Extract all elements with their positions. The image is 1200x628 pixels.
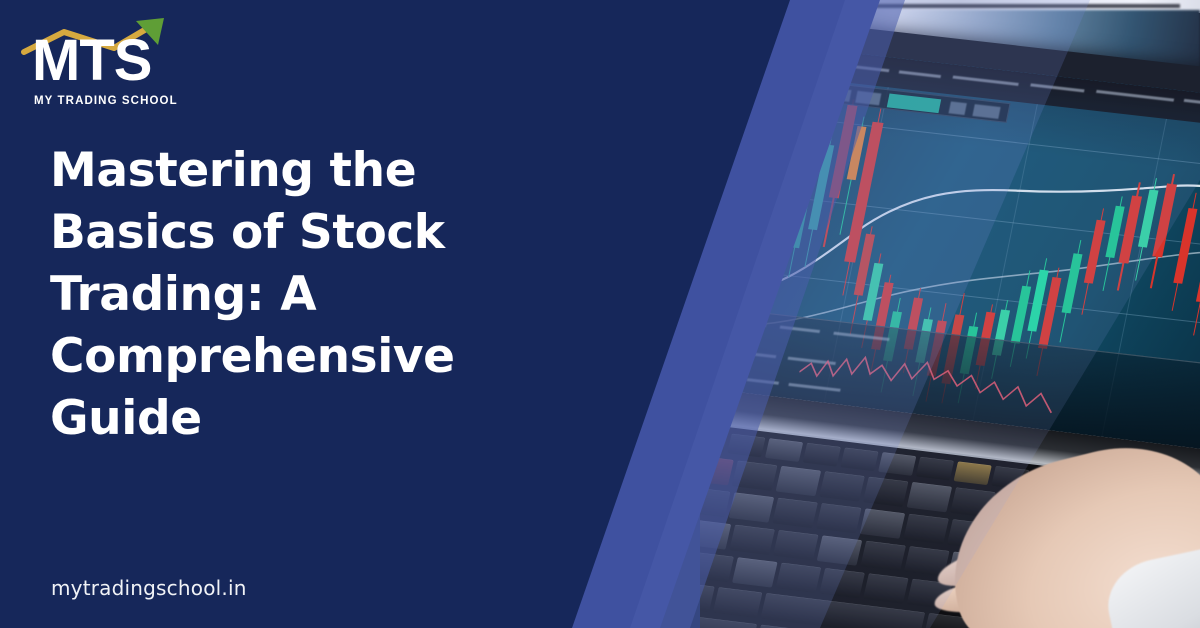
blog-banner: MTS MY TRADING SCHOOL Mastering the Basi… [0, 0, 1200, 628]
site-url[interactable]: mytradingschool.in [51, 576, 247, 600]
logo[interactable]: MTS MY TRADING SCHOOL [18, 18, 198, 110]
page-title: Mastering the Basics of Stock Trading: A… [50, 140, 520, 450]
logo-tagline: MY TRADING SCHOOL [34, 95, 178, 107]
logo-wordmark: MTS [32, 32, 151, 90]
banner-content: MTS MY TRADING SCHOOL Mastering the Basi… [0, 0, 640, 628]
